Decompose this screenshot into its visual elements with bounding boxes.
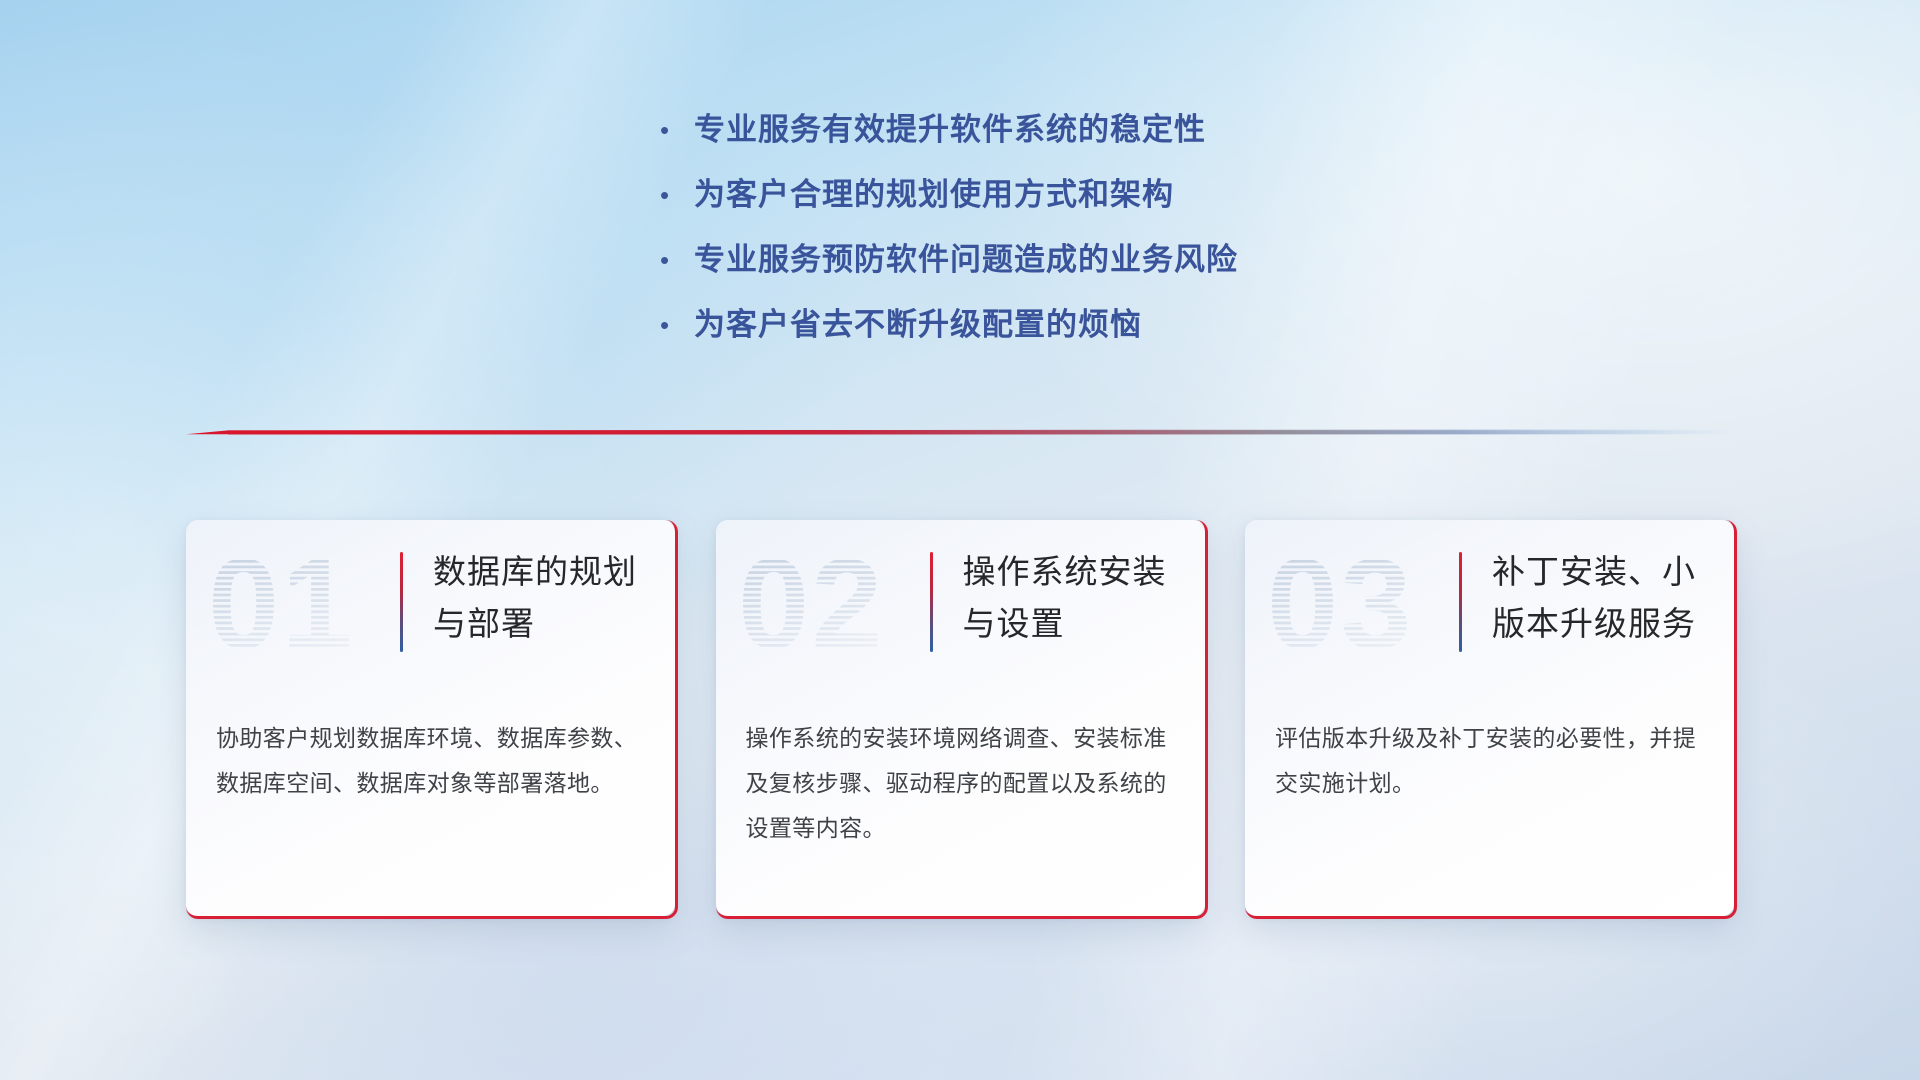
card-description: 协助客户规划数据库环境、数据库参数、数据库空间、数据库对象等部署落地。 (216, 716, 645, 806)
list-item: • 专业服务预防软件问题造成的业务风险 (660, 238, 1440, 303)
bullet-dot-icon: • (660, 108, 694, 152)
bullet-text: 为客户省去不断升级配置的烦恼 (694, 303, 1142, 347)
bullet-text: 专业服务有效提升软件系统的稳定性 (694, 108, 1206, 152)
svg-text:02: 02 (738, 533, 884, 672)
card-header: 03 补丁安装、小 版本升级服务 (1245, 520, 1734, 696)
card-title: 补丁安装、小 版本升级服务 (1492, 546, 1696, 650)
card-title: 数据库的规划 与部署 (433, 546, 637, 650)
card-title: 操作系统安装 与设置 (963, 546, 1167, 650)
bullet-dot-icon: • (660, 173, 694, 217)
tapered-gradient-rule-icon (186, 424, 1734, 442)
card-description: 操作系统的安装环境网络调查、安装标准及复核步骤、驱动程序的配置以及系统的设置等内… (746, 716, 1175, 851)
card-header: 02 操作系统安装 与设置 (716, 520, 1205, 696)
striped-number-icon: 01 (208, 532, 388, 672)
card-number-watermark: 03 (1267, 532, 1447, 672)
slide-canvas: • 专业服务有效提升软件系统的稳定性 • 为客户合理的规划使用方式和架构 • 专… (0, 0, 1920, 1080)
striped-number-icon: 02 (738, 532, 918, 672)
card-description: 评估版本升级及补丁安装的必要性，并提交实施计划。 (1275, 716, 1704, 806)
bullet-dot-icon: • (660, 303, 694, 347)
svg-text:03: 03 (1267, 533, 1413, 672)
service-card[interactable]: 02 操作系统安装 与设置 操作系统的安装环境网络调查、安装标准及复核步骤、驱动… (716, 520, 1205, 916)
bullet-text: 专业服务预防软件问题造成的业务风险 (694, 238, 1238, 282)
striped-number-icon: 03 (1267, 532, 1447, 672)
svg-text:01: 01 (208, 533, 354, 672)
list-item: • 为客户省去不断升级配置的烦恼 (660, 303, 1440, 368)
service-card[interactable]: 01 数据库的规划 与部署 协助客户规划数据库环境、数据库参数、数据库空间、数据… (186, 520, 675, 916)
bullet-text: 为客户合理的规划使用方式和架构 (694, 173, 1174, 217)
service-card[interactable]: 03 补丁安装、小 版本升级服务 评估版本升级及补丁安装的必要性，并提交实施计划… (1245, 520, 1734, 916)
card-header: 01 数据库的规划 与部署 (186, 520, 675, 696)
card-number-watermark: 01 (208, 532, 388, 672)
card-title-rule (930, 552, 933, 652)
section-divider (186, 424, 1734, 442)
card-title-rule (1459, 552, 1462, 652)
list-item: • 为客户合理的规划使用方式和架构 (660, 173, 1440, 238)
card-title-rule (400, 552, 403, 652)
list-item: • 专业服务有效提升软件系统的稳定性 (660, 108, 1440, 173)
service-cards-row: 01 数据库的规划 与部署 协助客户规划数据库环境、数据库参数、数据库空间、数据… (186, 520, 1734, 916)
bullet-dot-icon: • (660, 238, 694, 282)
card-number-watermark: 02 (738, 532, 918, 672)
benefits-bullet-list: • 专业服务有效提升软件系统的稳定性 • 为客户合理的规划使用方式和架构 • 专… (660, 108, 1440, 368)
